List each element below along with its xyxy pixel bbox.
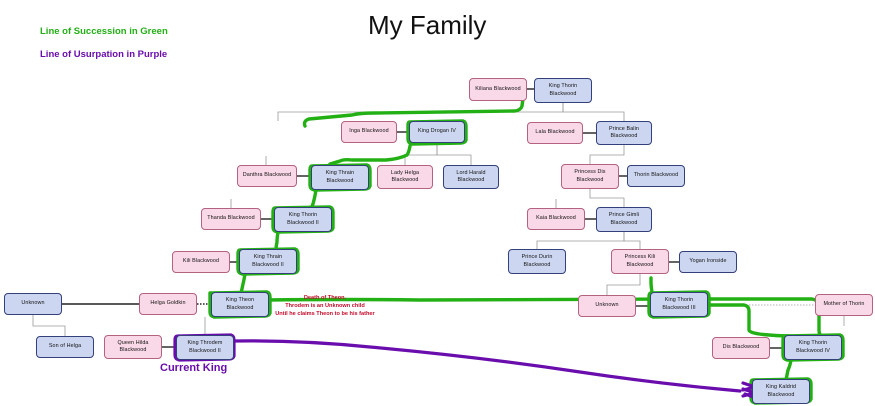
node-label: Lord Harald Blackwood (456, 170, 485, 185)
current-king-caption: Current King (160, 362, 227, 374)
node-label: King Thorin Blackwood II (287, 212, 319, 227)
node-thorin_b[interactable]: Thorin Blackwood (627, 165, 685, 187)
node-label: Yogan Ironside (689, 258, 726, 265)
green-thorin3-to-thorin4 (709, 305, 790, 336)
legend-usurpation: Line of Usurpation in Purple (40, 49, 167, 60)
node-balin[interactable]: Prince Balin Blackwood (596, 121, 652, 145)
node-label: Kiliana Blackwood (475, 86, 520, 93)
node-label: Prince Gimli Blackwood (609, 212, 639, 227)
node-label: Princess Kili Blackwood (625, 254, 656, 269)
edge-drogan4-to-harald (437, 143, 471, 165)
node-label: Queen Hilda Blackwood (117, 340, 148, 355)
node-thrain1[interactable]: King Thrain Blackwood (311, 165, 369, 190)
node-label: Lala Blackwood (535, 129, 574, 136)
edge-gimli-to-kili-princess (624, 232, 640, 249)
node-label: Unknown (595, 302, 618, 309)
theon-death-annotation: Death of Theon. Throdem is an Unknown ch… (260, 294, 390, 318)
node-unknown_right[interactable]: Unknown (578, 295, 636, 317)
purple-throdem-to-kaldrid (234, 341, 740, 391)
node-label: King Thorin Blackwood (549, 83, 578, 98)
node-label: King Thorin Blackwood III (662, 297, 695, 312)
node-son_helga[interactable]: Son of Helga (36, 336, 94, 358)
node-harald[interactable]: Lord Harald Blackwood (443, 165, 499, 189)
node-throdem2[interactable]: King Throdem Blackwood II (176, 335, 234, 360)
node-label: Prince Durin Blackwood (522, 254, 553, 269)
node-gimli[interactable]: Prince Gimli Blackwood (596, 207, 652, 232)
edge-dis-to-gimli (590, 189, 624, 207)
node-kaia[interactable]: Kaia Blackwood (527, 208, 585, 230)
node-label: Son of Helga (49, 343, 81, 350)
family-tree-canvas: My Family Line of Succession in Green Li… (0, 0, 875, 406)
node-label: Helga Goldkin (150, 300, 185, 307)
edge-gimli-to-durin (537, 232, 624, 249)
node-unknown_left[interactable]: Unknown (4, 293, 62, 315)
green-thorin2-to-thrain2 (276, 232, 278, 250)
green-thorin4-to-kaldrid (786, 360, 791, 380)
node-label: Dis Blackwood (723, 344, 760, 351)
node-label: King Thorin Blackwood IV (796, 340, 830, 355)
node-inga[interactable]: Inga Blackwood (341, 121, 397, 143)
node-label: Unknown (21, 300, 44, 307)
node-label: King Thrain Blackwood II (252, 254, 284, 269)
edge-thorin1-to-balin (563, 103, 624, 121)
node-queen_hilda[interactable]: Queen Hilda Blackwood (104, 335, 162, 359)
node-danthra[interactable]: Danthra Blackwood (237, 165, 297, 187)
node-yogan[interactable]: Yogan Ironside (679, 251, 737, 273)
green-drogan4-to-thrain1 (330, 146, 410, 164)
edge-kilipr-to-unknown-right (607, 273, 640, 295)
node-label: King Thrain Blackwood (326, 170, 355, 185)
node-helga_lady[interactable]: Lady Helga Blackwood (377, 165, 433, 189)
page-title: My Family (368, 10, 486, 41)
node-helga_goldkin[interactable]: Helga Goldkin (139, 293, 197, 315)
edge-balin-to-dis (590, 145, 624, 164)
node-dis_princess[interactable]: Princess Dis Blackwood (561, 164, 619, 189)
node-label: Inga Blackwood (349, 128, 388, 135)
node-drogan4[interactable]: King Drogan IV (409, 121, 465, 143)
node-thrain2[interactable]: King Thrain Blackwood II (239, 249, 297, 274)
node-label: King Kaldrid Blackwood (766, 384, 796, 399)
edge-unknown-left-to-son (33, 315, 65, 336)
node-kaldrid[interactable]: King Kaldrid Blackwood (752, 379, 810, 404)
node-thorin3[interactable]: King Thorin Blackwood III (650, 292, 708, 317)
node-kili_princess[interactable]: Princess Kili Blackwood (611, 249, 669, 274)
node-thorin2[interactable]: King Thorin Blackwood II (274, 207, 332, 232)
usurpation-line-purple (175, 335, 756, 398)
node-label: Princess Dis Blackwood (574, 169, 605, 184)
node-thanda[interactable]: Thanda Blackwood (201, 208, 261, 230)
node-label: Prince Balin Blackwood (609, 126, 639, 141)
node-label: Lady Helga Blackwood (391, 170, 419, 185)
green-thrain1-to-thorin2 (311, 190, 316, 208)
node-label: King Drogan IV (418, 128, 456, 135)
green-thrain2-to-theon (241, 274, 245, 293)
green-thorin3-up (651, 278, 652, 292)
legend-succession: Line of Succession in Green (40, 26, 168, 37)
node-kiliana[interactable]: Kiliana Blackwood (469, 78, 527, 101)
node-label: Mother of Thorin (823, 301, 864, 308)
node-mother_thorin[interactable]: Mother of Thorin (815, 294, 873, 316)
node-label: King Theon Blackwood (226, 297, 254, 312)
node-thorin4[interactable]: King Thorin Blackwood IV (784, 335, 842, 360)
node-label: Thanda Blackwood (207, 215, 254, 222)
edge-thorin1-to-drogan4 (278, 103, 563, 121)
node-dis[interactable]: Dis Blackwood (712, 337, 770, 359)
node-label: King Throdem Blackwood II (188, 340, 223, 355)
node-label: Thorin Blackwood (634, 172, 678, 179)
node-kili[interactable]: Kili Blackwood (172, 251, 230, 273)
node-lala[interactable]: Lala Blackwood (527, 122, 583, 144)
node-durin[interactable]: Prince Durin Blackwood (508, 249, 566, 274)
node-label: Danthra Blackwood (243, 172, 291, 179)
node-thorin1[interactable]: King Thorin Blackwood (534, 78, 592, 103)
node-label: Kaia Blackwood (536, 215, 576, 222)
node-label: Kili Blackwood (183, 258, 219, 265)
edge-drogan4-to-helga (405, 143, 437, 165)
